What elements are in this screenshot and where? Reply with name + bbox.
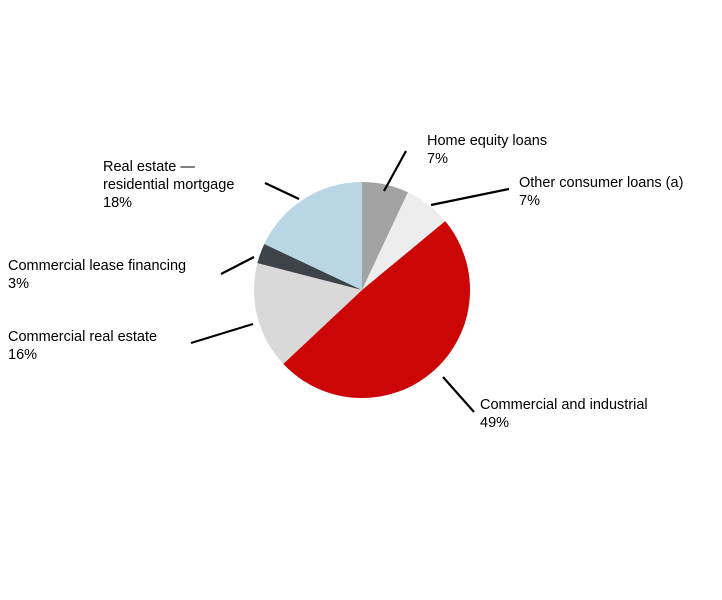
pie-label-category: Home equity loans — [427, 132, 547, 150]
leader-line-commercial-and-industrial — [443, 377, 474, 412]
pie-label-percent: 16% — [8, 346, 157, 364]
leader-line-commercial-real-estate — [191, 324, 253, 343]
pie-label-category-line1: Real estate — — [103, 158, 234, 176]
leader-line-commercial-lease-financing — [221, 257, 254, 274]
pie-label-commercial-real-estate: Commercial real estate 16% — [8, 328, 157, 364]
pie-slices — [254, 182, 470, 398]
pie-label-commercial-and-industrial: Commercial and industrial 49% — [480, 396, 648, 432]
pie-label-category: Commercial lease financing — [8, 257, 186, 275]
pie-label-commercial-lease-financing: Commercial lease financing 3% — [8, 257, 186, 293]
pie-label-percent: 18% — [103, 194, 234, 212]
leader-line-other-consumer-loans — [431, 189, 509, 205]
pie-label-percent: 3% — [8, 275, 186, 293]
pie-label-percent: 7% — [427, 150, 547, 168]
pie-label-category-line2: residential mortgage — [103, 176, 234, 194]
leader-line-real-estate-residential-mortgage — [265, 183, 299, 199]
pie-label-category: Commercial and industrial — [480, 396, 648, 414]
pie-label-category: Other consumer loans (a) — [519, 174, 683, 192]
pie-label-percent: 49% — [480, 414, 648, 432]
pie-label-category: Commercial real estate — [8, 328, 157, 346]
pie-chart: Home equity loans 7% Other consumer loan… — [0, 0, 722, 600]
pie-label-percent: 7% — [519, 192, 683, 210]
pie-label-real-estate-residential-mortgage: Real estate — residential mortgage 18% — [103, 158, 234, 212]
pie-label-other-consumer-loans: Other consumer loans (a) 7% — [519, 174, 683, 210]
pie-label-home-equity-loans: Home equity loans 7% — [427, 132, 547, 168]
pie-chart-canvas — [0, 0, 722, 600]
leader-line-home-equity-loans — [384, 151, 406, 191]
